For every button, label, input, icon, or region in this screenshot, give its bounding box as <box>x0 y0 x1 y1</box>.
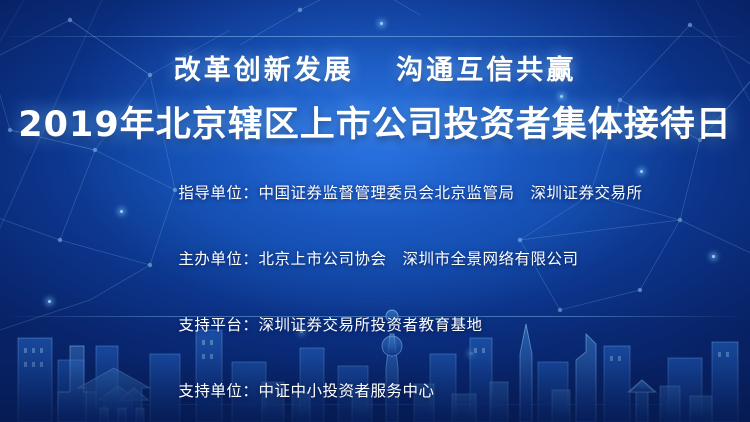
credit-line-platform: 支持平台：深圳证券交易所投资者教育基地 <box>135 295 615 353</box>
credit-value: 深圳证券交易所投资者教育基地 <box>258 316 482 334</box>
poster-title: 2019年北京辖区上市公司投资者集体接待日 <box>0 96 750 147</box>
credit-line-guidance: 指导单位：中国证券监督管理委员会北京监管局 深圳证券交易所 <box>135 163 615 221</box>
credit-line-support-unit: 支持单位：中证中小投资者服务中心 <box>135 361 615 419</box>
poster-content: 改革创新发展 沟通互信共赢 2019年北京辖区上市公司投资者集体接待日 指导单位… <box>0 0 750 422</box>
credit-value: 北京上市公司协会 深圳市全景网络有限公司 <box>258 250 578 268</box>
credit-label: 指导单位： <box>178 181 258 203</box>
poster-banner: 改革创新发展 沟通互信共赢 2019年北京辖区上市公司投资者集体接待日 指导单位… <box>0 0 750 422</box>
credit-label: 支持单位： <box>178 379 258 401</box>
poster-slogan: 改革创新发展 沟通互信共赢 <box>0 48 750 87</box>
credit-value: 中证中小投资者服务中心 <box>258 382 434 400</box>
credit-value: 中国证券监督管理委员会北京监管局 深圳证券交易所 <box>258 184 642 202</box>
credit-label: 主办单位： <box>178 247 258 269</box>
credit-line-organizer: 主办单位：北京上市公司协会 深圳市全景网络有限公司 <box>135 229 615 287</box>
credit-label: 支持平台： <box>178 313 258 335</box>
credits-list: 指导单位：中国证券监督管理委员会北京监管局 深圳证券交易所 主办单位：北京上市公… <box>0 163 750 422</box>
